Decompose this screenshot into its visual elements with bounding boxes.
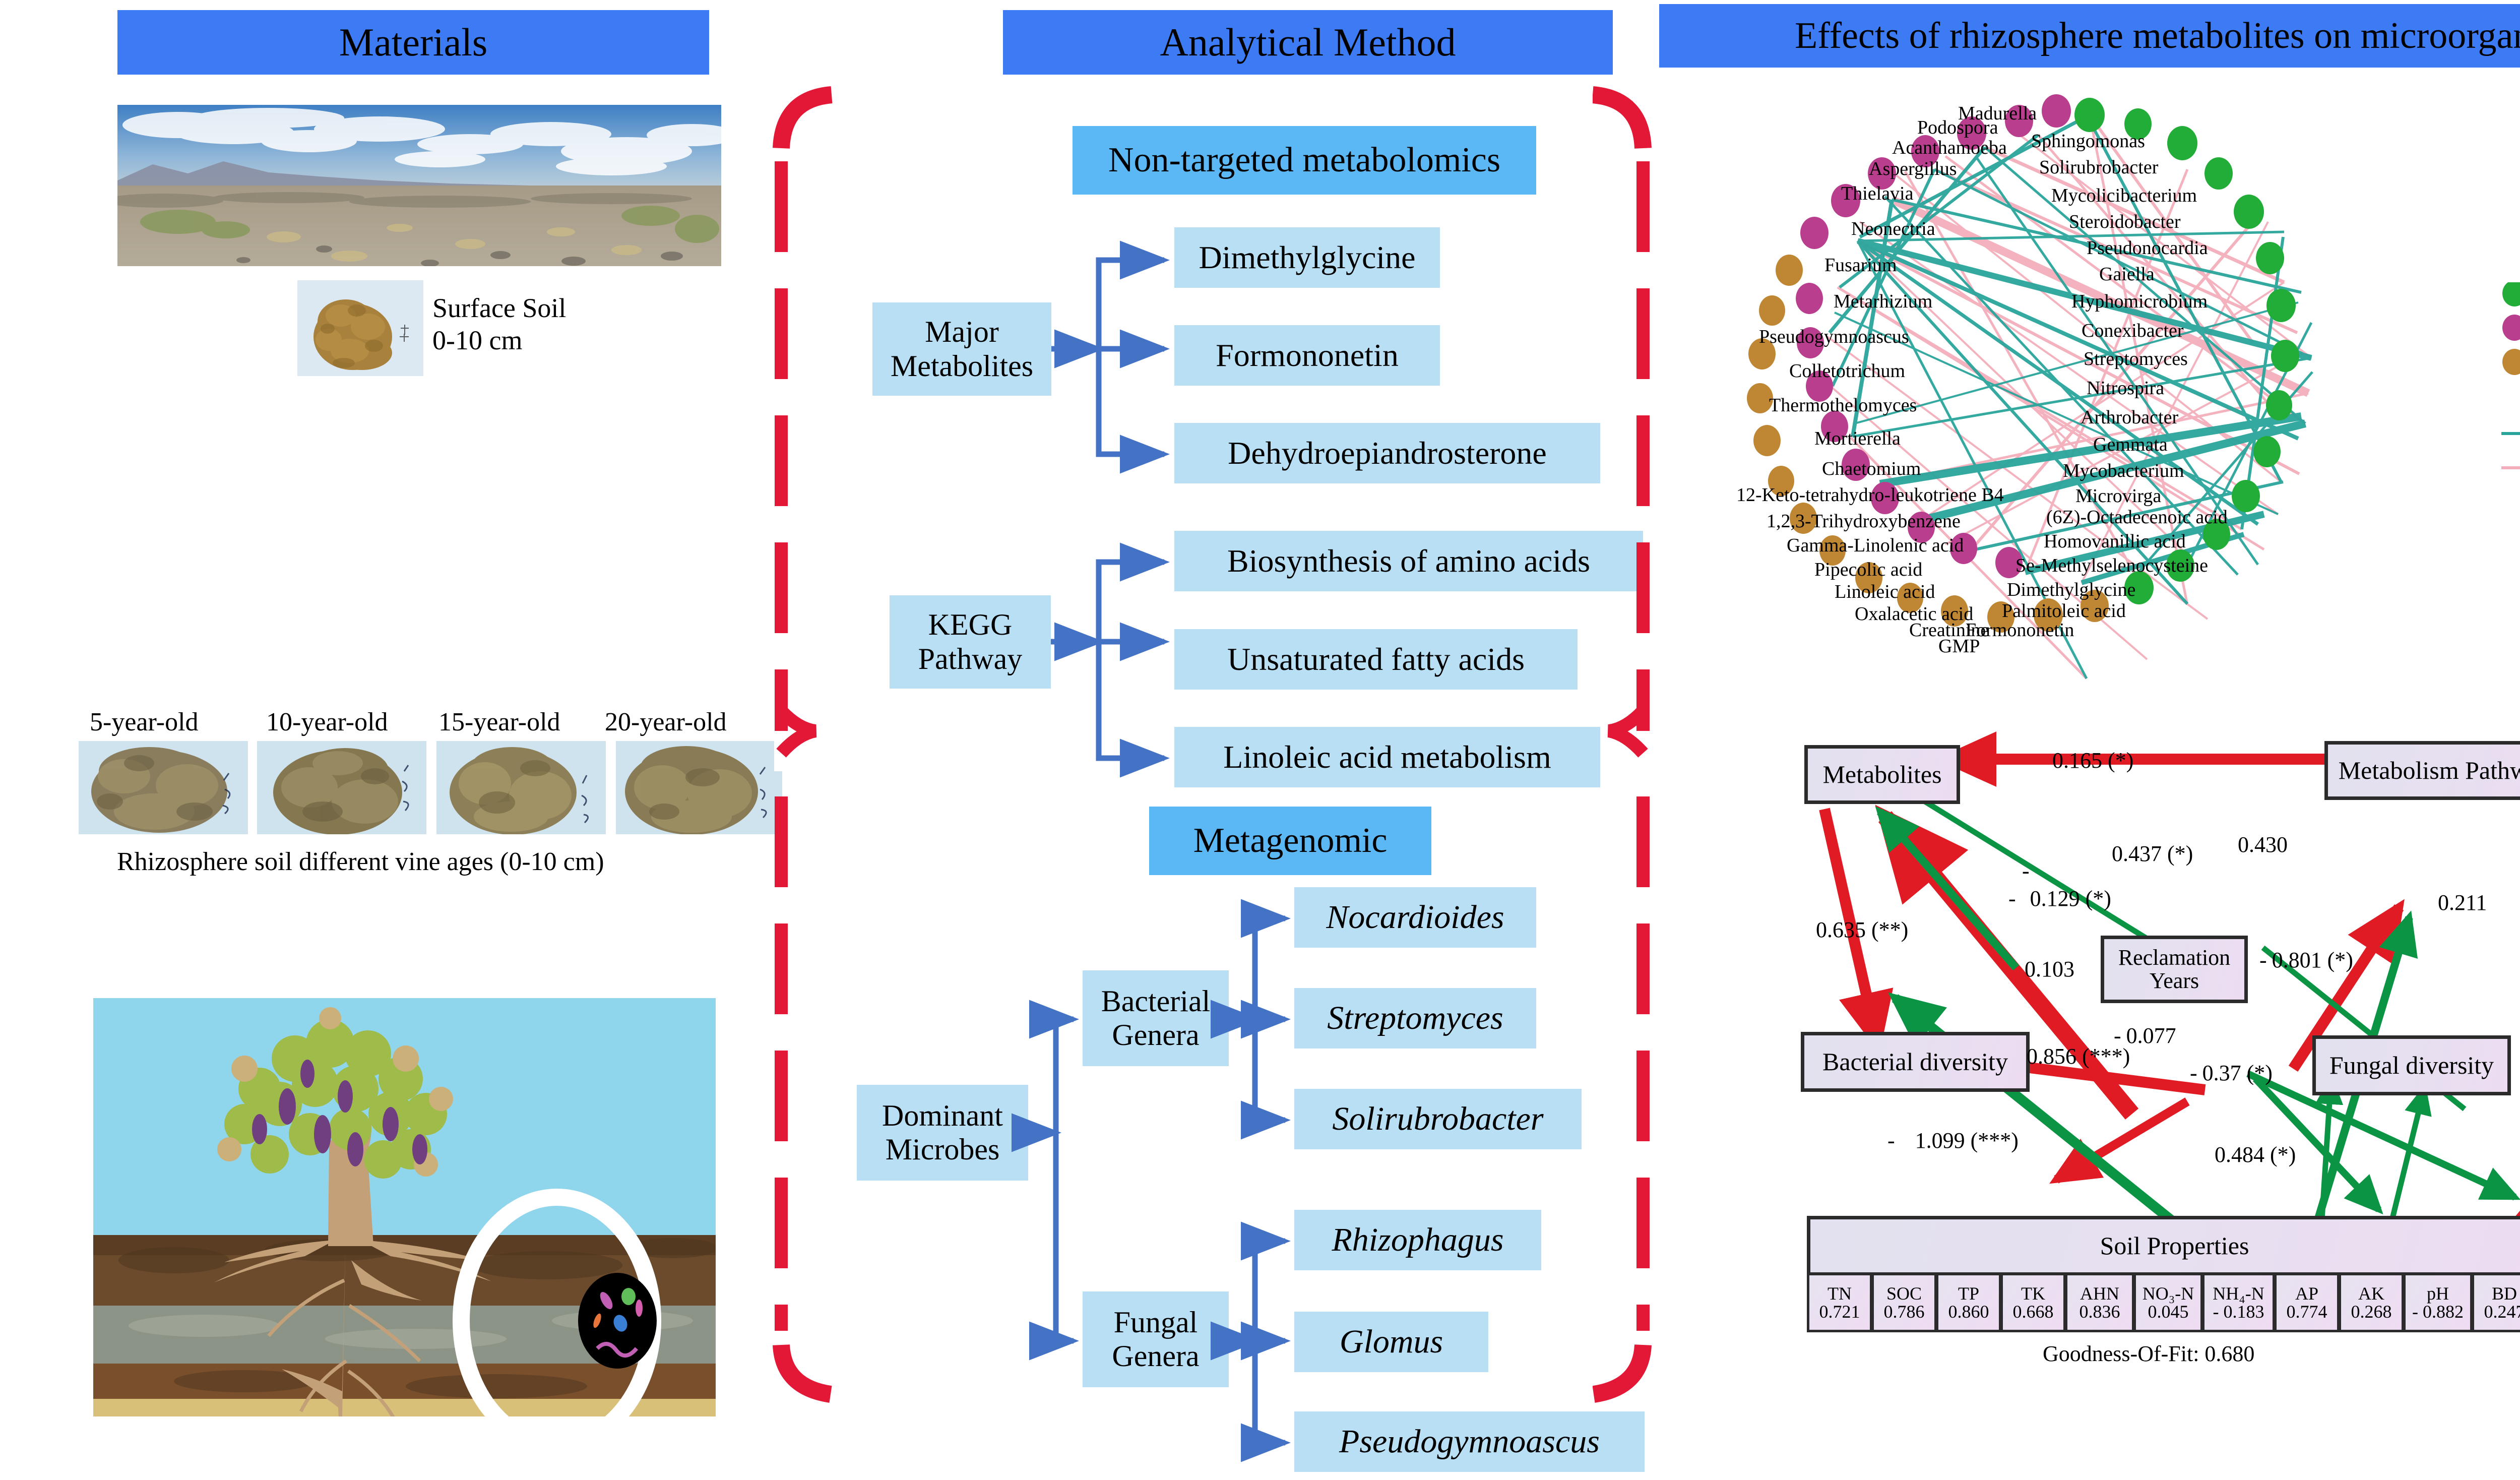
node-label-palmitoleic-acid: Palmitoleic acid: [2002, 600, 2126, 622]
group-fungal-genera: Fungal Genera: [1083, 1291, 1229, 1387]
sem-node-metabolism-pathway: Metabolism Pathway: [2324, 741, 2520, 800]
path-label-0211: 0.211: [2438, 890, 2487, 915]
desert-landscape-photo: [117, 105, 721, 266]
node-label-dimethylglycine: Dimethylglycine: [2007, 579, 2135, 601]
node-label-mycolicibacterium: Mycolicibacterium: [2051, 184, 2197, 207]
item-streptomyces: Streptomyces: [1294, 988, 1536, 1049]
node-label-thielavia: Aspergillus: [1869, 158, 1957, 180]
item-nocardioides: Nocardioides: [1294, 887, 1536, 948]
effects-title-banner: Effects of rhizosphere metabolites on mi…: [1659, 4, 2520, 68]
path-label-0635: 0.635 (**): [1816, 917, 1908, 943]
rhizo-soil-photo-5yr: [79, 741, 248, 834]
node-label-gemmata: Gemmata: [2093, 434, 2168, 456]
item-dehydroepiandrosterone: Dehydroepiandrosterone: [1174, 423, 1600, 483]
rhizosphere-caption: Rhizosphere soil different vine ages (0-…: [117, 847, 604, 877]
node-label-hyphomicrobium: Hyphomicrobium: [2071, 290, 2208, 313]
path-label-0801: -0.801 (*): [2259, 947, 2353, 973]
node-label-6z-octadecenoic-acid: (6Z)-Octadecenoic acid: [2046, 506, 2228, 528]
surface-soil-caption-line1: Surface Soil: [432, 292, 566, 325]
legend-swatch-fungus: [2502, 315, 2520, 341]
node-label-steroidobacter: Steroidobacter: [2069, 211, 2181, 233]
node-label-thermothelomyces: Thermothelomyces: [1769, 394, 1917, 416]
path-label-0430: 0.430: [2238, 832, 2288, 857]
item-rhizophagus: Rhizophagus: [1294, 1210, 1541, 1270]
path-label-1099-sign: -: [1887, 1128, 1895, 1153]
sem-node-fungal-diversity: Fungal diversity: [2312, 1035, 2511, 1095]
soil-cell-ak: AK 0.268: [2339, 1273, 2404, 1332]
soil-cell-ph: pH - 0.882: [2403, 1273, 2473, 1332]
node-label-conexibacter: Conexibacter: [2082, 320, 2184, 342]
sem-node-reclamation-years: Reclamation Years: [2101, 936, 2248, 1003]
item-glomus: Glomus: [1294, 1312, 1488, 1372]
network-legend: [2501, 282, 2520, 534]
node-label-linoleic-acid: Linoleic acid: [1835, 581, 1935, 603]
path-label-037: -0.37 (*): [2190, 1060, 2273, 1086]
node-label-mortierella: Mortierella: [1814, 427, 1901, 450]
rhizo-soil-photo-15yr: [436, 741, 606, 834]
node-label-12-keto: 12-Keto-tetrahydro-leukotriene B4: [1736, 484, 2004, 506]
materials-title-banner: Materials: [117, 10, 709, 75]
path-label-0077: -0.077: [2114, 1023, 2176, 1049]
node-label-pipecolic-acid: Pipecolic acid: [1814, 559, 1922, 581]
node-label-streptomyces: Streptomyces: [2084, 348, 2188, 370]
sem-node-soil-properties: Soil Properties: [1807, 1216, 2520, 1276]
soil-cell-nh4n: NH₄-N - 0.183: [2202, 1273, 2275, 1332]
node-label-nitrospira: Nitrospira: [2087, 377, 2164, 399]
soil-cell-ap: AP 0.774: [2274, 1273, 2340, 1332]
group-bacterial-genera: Bacterial Genera: [1083, 970, 1229, 1066]
group-dominant-microbes: Dominant Microbes: [857, 1085, 1028, 1181]
path-label-0129: -0.129 (*): [2008, 886, 2111, 911]
effects-title: Effects of rhizosphere metabolites on mi…: [1795, 15, 2520, 57]
section-header-metagenomic: Metagenomic: [1149, 807, 1431, 875]
item-solirubrobacter: Solirubrobacter: [1294, 1089, 1582, 1149]
legend-swatch-metabolite: [2502, 349, 2520, 375]
surface-soil-sample-photo: [297, 280, 423, 376]
group-kegg-pathway: KEGG Pathway: [890, 595, 1051, 689]
node-label-fusarium: Neonectria: [1851, 218, 1935, 240]
node-label-chaetomium: Chaetomium: [1822, 458, 1921, 480]
node-label-aspergillus: Acanthamoeba: [1892, 137, 2007, 159]
soil-cell-tk: TK 0.668: [2000, 1273, 2066, 1332]
path-label-0484: 0.484 (*): [2215, 1142, 2296, 1167]
item-formononetin: Formononetin: [1174, 325, 1440, 386]
surface-soil-caption-line2: 0-10 cm: [432, 325, 566, 357]
path-label-0129-sign: -: [2008, 886, 2016, 911]
node-label-mycobacterium: Mycobacterium: [2063, 460, 2184, 482]
item-pseudogymnoascus: Pseudogymnoascus: [1294, 1411, 1645, 1472]
node-label-homovanillic-acid: Homovanillic acid: [2044, 530, 2186, 552]
section-header-non-targeted-metabolomics: Non-targeted metabolomics: [1073, 126, 1536, 195]
node-label-verruconis: Metarhizium: [1834, 290, 1932, 313]
item-biosynthesis-of-amino-acids: Biosynthesis of amino acids: [1174, 531, 1643, 591]
legend-swatch-bacteria: [2502, 282, 2520, 306]
soil-cell-tn: TN 0.721: [1807, 1273, 1872, 1332]
item-unsaturated-fatty-acids: Unsaturated fatty acids: [1174, 629, 1578, 690]
path-label-0165: 0.165 (*): [2052, 748, 2133, 773]
vineyard-soil-profile-illustration: [93, 998, 716, 1416]
item-linoleic-acid-metabolism: Linoleic acid metabolism: [1174, 727, 1600, 787]
path-label-0103: 0.103: [2025, 956, 2074, 982]
path-label-0077-sign: -: [2114, 1023, 2121, 1048]
node-label-microvirga: Microvirga: [2075, 485, 2161, 507]
item-dimethylglycine: Dimethylglycine: [1174, 227, 1440, 288]
rhizo-soil-photo-20yr: [616, 741, 782, 834]
goodness-of-fit-label: Goodness-Of-Fit: 0.680: [2043, 1341, 2254, 1367]
path-label-0801-sign: -: [2259, 948, 2267, 972]
soil-cell-tp: TP 0.860: [1936, 1273, 2001, 1332]
node-label-acanthamoeba: Podospora: [1917, 116, 1998, 139]
node-label-arthrobacter: Arthrobacter: [2081, 406, 2178, 428]
group-major-metabolites: Major Metabolites: [872, 302, 1051, 396]
node-label-solirubrobacter: Solirubrobacter: [2039, 156, 2158, 178]
node-label-sphingomonas: Sphingomonas: [2031, 130, 2145, 152]
node-label-gaiella: Gaiella: [2099, 263, 2155, 285]
node-label-metarhizium: Fusarium: [1824, 254, 1897, 276]
path-label-037-sign: -: [2190, 1061, 2197, 1085]
analytical-method-title-banner: Analytical Method: [1003, 10, 1613, 75]
bracket-left: [766, 86, 837, 1406]
soil-cell-soc: SOC 0.786: [1871, 1273, 1937, 1332]
rhizo-soil-photo-10yr: [257, 741, 426, 834]
surface-soil-caption: Surface Soil 0-10 cm: [432, 292, 566, 356]
materials-title: Materials: [339, 20, 488, 65]
node-label-gamma-linolenic-acid: Gamma-Linolenic acid: [1787, 534, 1964, 557]
soil-cell-no3n: NO₃-N 0.045: [2133, 1273, 2203, 1332]
node-label-formononetin: Formononetin: [1966, 619, 2074, 641]
node-label-pseudogymnoascus: Pseudogymnoascus: [1759, 326, 1909, 348]
node-label-colletotrichum: Colletotrichum: [1789, 360, 1905, 382]
node-label-se-methylselenocysteine: Se-Methylselenocysteine: [2015, 554, 2208, 577]
age-label-20: 20-year-old: [605, 707, 727, 737]
analytical-method-title: Analytical Method: [1160, 20, 1456, 65]
node-label-trihydroxybenzene: 1,2,3-Trihydroxybenzene: [1767, 510, 1961, 532]
node-label-neonectria: Thielavia: [1841, 182, 1913, 205]
sem-node-metabolites: Metabolites: [1804, 745, 1960, 804]
sem-node-bacterial-diversity: Bacterial diversity: [1801, 1032, 2030, 1092]
bracket-right: [1593, 86, 1663, 1406]
age-label-10: 10-year-old: [266, 707, 388, 737]
node-label-pseudonocardia: Pseudonocardia: [2087, 237, 2208, 259]
age-label-15: 15-year-old: [438, 707, 560, 737]
path-label-0129-minus: -: [2022, 858, 2030, 884]
path-label-1099: -1.099 (***): [1887, 1128, 2019, 1153]
soil-cell-ahn: AHN 0.836: [2065, 1273, 2134, 1332]
path-label-0437: 0.437 (*): [2112, 841, 2193, 867]
soil-cell-bd: BD 0.247: [2472, 1273, 2520, 1332]
age-label-5: 5-year-old: [90, 707, 199, 737]
